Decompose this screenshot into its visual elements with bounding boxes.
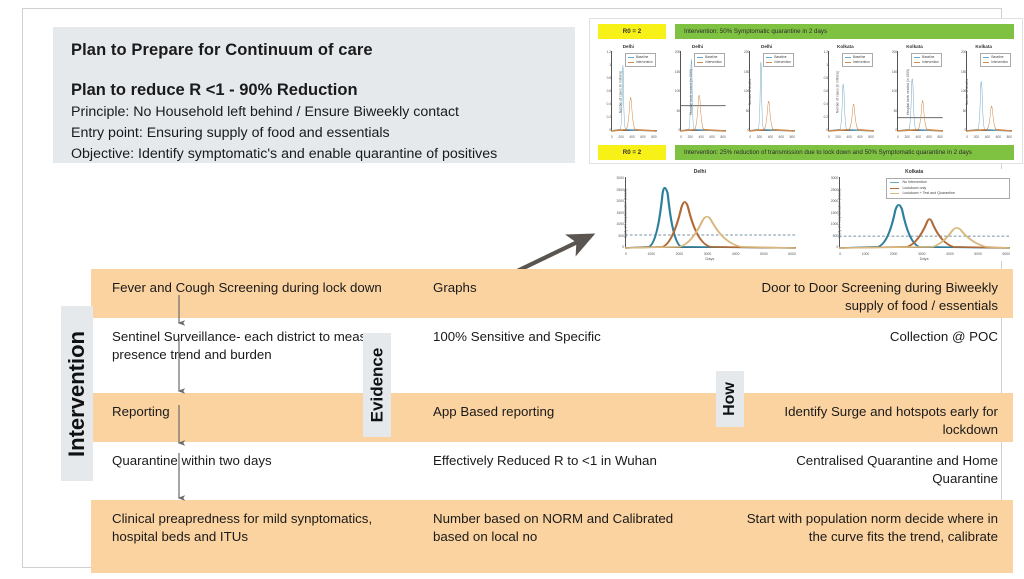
chart-title: Delhi: [667, 44, 728, 49]
cell-intervention: Clinical preapredness for mild synptomat…: [112, 510, 407, 546]
chart-title: Delhi: [601, 169, 799, 175]
header-panel: Plan to Prepare for Continuum of care Pl…: [53, 27, 575, 163]
cell-how: Identify Surge and hotspots early for lo…: [729, 403, 998, 439]
axis-label-evidence: Evidence: [363, 333, 391, 437]
chart-title: Kolkata: [953, 44, 1014, 49]
axis-label-how: How: [716, 371, 744, 427]
chart-title: Delhi: [598, 44, 659, 49]
banner-bottom-r0: R0 = 2: [598, 145, 666, 160]
cell-how: Start with population norm decide where …: [729, 510, 998, 546]
table-row: Fever and Cough Screening during lock do…: [91, 269, 1013, 318]
mini-chart-delhi-cases: Delhi Number of cases (in millions) 1.21…: [598, 43, 659, 141]
chart-yticks: 200150 10050 0: [740, 50, 749, 132]
table-row: Quarantine within two days Effectively R…: [91, 442, 1013, 500]
big-chart-kolkata: Kolkata Daily of Hospitalisation (Nos/d)…: [815, 169, 1013, 261]
chart-yticks: 200150 10050 0: [957, 50, 966, 132]
chart-xticks: 0200 400600 800: [749, 135, 795, 139]
table-row: Sentinel Surveillance- each district to …: [91, 318, 1013, 393]
chart-xlabel: Days: [623, 256, 797, 261]
chart-yticks: 1.21 0.80.6 0.40.2 0: [819, 50, 828, 132]
chart-legend: Baseline Intervention: [842, 53, 873, 67]
slide-frame: Plan to Prepare for Continuum of care Pl…: [22, 8, 1002, 568]
big-chart-delhi: Delhi Daily of Hospitalisation (Nos/d) 3…: [601, 169, 799, 261]
cell-intervention: Fever and Cough Screening during lock do…: [112, 279, 407, 297]
slide-canvas: Plan to Prepare for Continuum of care Pl…: [0, 0, 1024, 579]
mini-chart-kolkata-beds: Kolkata Hospital beds needed (in 1000) 2…: [884, 43, 945, 141]
chart-title: Kolkata: [815, 44, 876, 49]
chart-legend: Baseline Intervention: [980, 53, 1011, 67]
chart-xticks: 0200 400600 800: [966, 135, 1012, 139]
cell-evidence: App Based reporting: [433, 403, 713, 421]
chart-yticks: 200150 10050 0: [671, 50, 680, 132]
chart-xlabel: Days: [837, 256, 1011, 261]
chart-yticks: 30002500 20001500 1000500 0: [823, 176, 838, 249]
chart-curves: [625, 177, 796, 248]
header-entry-point: Entry point: Ensuring supply of food and…: [71, 123, 561, 143]
table-row: Reporting App Based reporting Identify S…: [91, 393, 1013, 442]
mini-chart-group-delhi: Delhi Number of cases (in millions) 1.21…: [598, 43, 797, 141]
subtitle: Plan to reduce R <1 - 90% Reduction: [71, 81, 561, 101]
flow-arrows-icon: [173, 295, 185, 501]
chart-yticks: 30002500 20001500 1000500 0: [609, 176, 624, 249]
mini-chart-group-kolkata: Kolkata Number of cases (in millions) 1.…: [815, 43, 1014, 141]
chart-legend: Baseline Intervention: [625, 53, 656, 67]
chart-xticks: 0200 400600 800: [828, 135, 874, 139]
header-principle: Principle: No Household left behind / En…: [71, 102, 561, 122]
axis-label-intervention: Intervention: [61, 306, 93, 481]
chart-legend: Baseline Intervention: [763, 53, 794, 67]
chart-legend: No Intervention Lockdown only Lockdown +…: [886, 178, 1010, 199]
chart-title: Delhi: [736, 44, 797, 49]
cell-how: Collection @ POC: [729, 328, 998, 346]
big-chart-row: Delhi Daily of Hospitalisation (Nos/d) 3…: [601, 169, 1013, 261]
chart-legend: Baseline Intervention: [911, 53, 942, 67]
banner-top-r0: R0 = 2: [598, 24, 666, 39]
mini-chart-delhi-beds: Delhi Hospital beds needed (in 1000) 200…: [667, 43, 728, 141]
banner-top-text: Intervention: 50% Symptomatic quarantine…: [675, 24, 1014, 39]
mini-chart-kolkata-cases: Kolkata Number of cases (in millions) 1.…: [815, 43, 876, 141]
cell-evidence: Number based on NORM and Calibrated base…: [433, 510, 713, 546]
chart-title: Kolkata: [884, 44, 945, 49]
page-title: Plan to Prepare for Continuum of care: [71, 41, 561, 61]
intervention-matrix: Fever and Cough Screening during lock do…: [91, 269, 1013, 573]
chart-xticks: 0200 400600 800: [897, 135, 943, 139]
chart-yticks: 1.21 0.80.6 0.40.2 0: [602, 50, 611, 132]
header-objective: Objective: Identify symptomatic's and en…: [71, 144, 561, 164]
chart-xticks: 0200 400600 800: [680, 135, 726, 139]
cell-intervention: Quarantine within two days: [112, 452, 407, 470]
mini-chart-kolkata-deaths: Kolkata Number of deaths 200150 10050 0 …: [953, 43, 1014, 141]
chart-title: Kolkata: [815, 169, 1013, 175]
mini-chart-delhi-deaths: Delhi Number of deaths 200150 10050 0 02…: [736, 43, 797, 141]
banner-bottom: R0 = 2 Intervention: 25% reduction of tr…: [598, 145, 1014, 160]
table-row: Clinical preapredness for mild synptomat…: [91, 500, 1013, 573]
cell-evidence: Graphs: [433, 279, 713, 297]
mini-chart-row: Delhi Number of cases (in millions) 1.21…: [598, 43, 1014, 141]
cell-evidence: Effectively Reduced R to <1 in Wuhan: [433, 452, 713, 470]
cell-how: Centralised Quarantine and Home Quaranti…: [729, 452, 998, 488]
cell-how: Door to Door Screening during Biweekly s…: [729, 279, 998, 315]
chart-legend: Baseline Intervention: [694, 53, 725, 67]
chart-yticks: 200150 10050 0: [888, 50, 897, 132]
simulation-panel: R0 = 2 Intervention: 50% Symptomatic qua…: [589, 18, 1023, 164]
chart-xticks: 0200 400600 800: [611, 135, 657, 139]
banner-bottom-text: Intervention: 25% reduction of transmiss…: [675, 145, 1014, 160]
cell-evidence: 100% Sensitive and Specific: [433, 328, 713, 346]
banner-top: R0 = 2 Intervention: 50% Symptomatic qua…: [598, 24, 1014, 39]
